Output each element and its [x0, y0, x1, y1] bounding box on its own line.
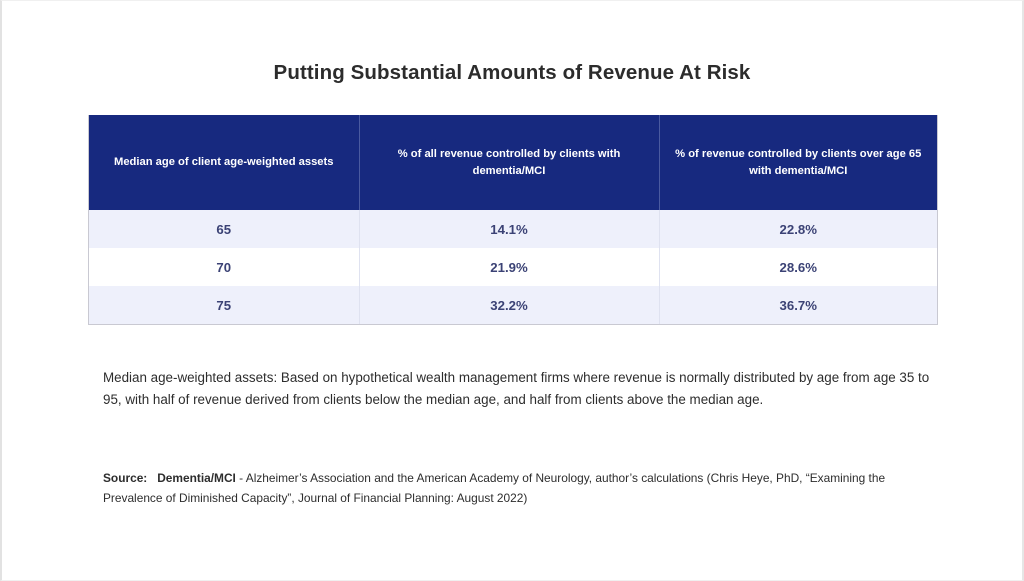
slide-canvas: Putting Substantial Amounts of Revenue A… [0, 0, 1024, 581]
cell-pct-revenue-over-65: 22.8% [659, 210, 937, 248]
cell-median-age: 70 [89, 248, 359, 286]
source-note: Source: Dementia/MCI - Alzheimer’s Assoc… [103, 468, 913, 509]
cell-pct-all-revenue: 21.9% [359, 248, 659, 286]
cell-median-age: 65 [89, 210, 359, 248]
table-header-row: Median age of client age-weighted assets… [89, 115, 937, 210]
page-title: Putting Substantial Amounts of Revenue A… [2, 61, 1022, 85]
cell-pct-all-revenue: 32.2% [359, 286, 659, 324]
table: Median age of client age-weighted assets… [89, 115, 937, 324]
column-header-pct-revenue-over-65: % of revenue controlled by clients over … [659, 115, 937, 210]
table-header: Median age of client age-weighted assets… [89, 115, 937, 210]
cell-pct-all-revenue: 14.1% [359, 210, 659, 248]
cell-pct-revenue-over-65: 36.7% [659, 286, 937, 324]
column-header-pct-all-revenue: % of all revenue controlled by clients w… [359, 115, 659, 210]
source-bold-term: Dementia/MCI [157, 471, 236, 485]
cell-median-age: 75 [89, 286, 359, 324]
table-body: 65 14.1% 22.8% 70 21.9% 28.6% 75 32.2% 3… [89, 210, 937, 324]
table-row: 65 14.1% 22.8% [89, 210, 937, 248]
methodology-note: Median age-weighted assets: Based on hyp… [103, 367, 933, 411]
cell-pct-revenue-over-65: 28.6% [659, 248, 937, 286]
table-row: 75 32.2% 36.7% [89, 286, 937, 324]
table-row: 70 21.9% 28.6% [89, 248, 937, 286]
source-label: Source: [103, 471, 147, 485]
column-header-median-age: Median age of client age-weighted assets [89, 115, 359, 210]
revenue-risk-table: Median age of client age-weighted assets… [88, 115, 938, 325]
